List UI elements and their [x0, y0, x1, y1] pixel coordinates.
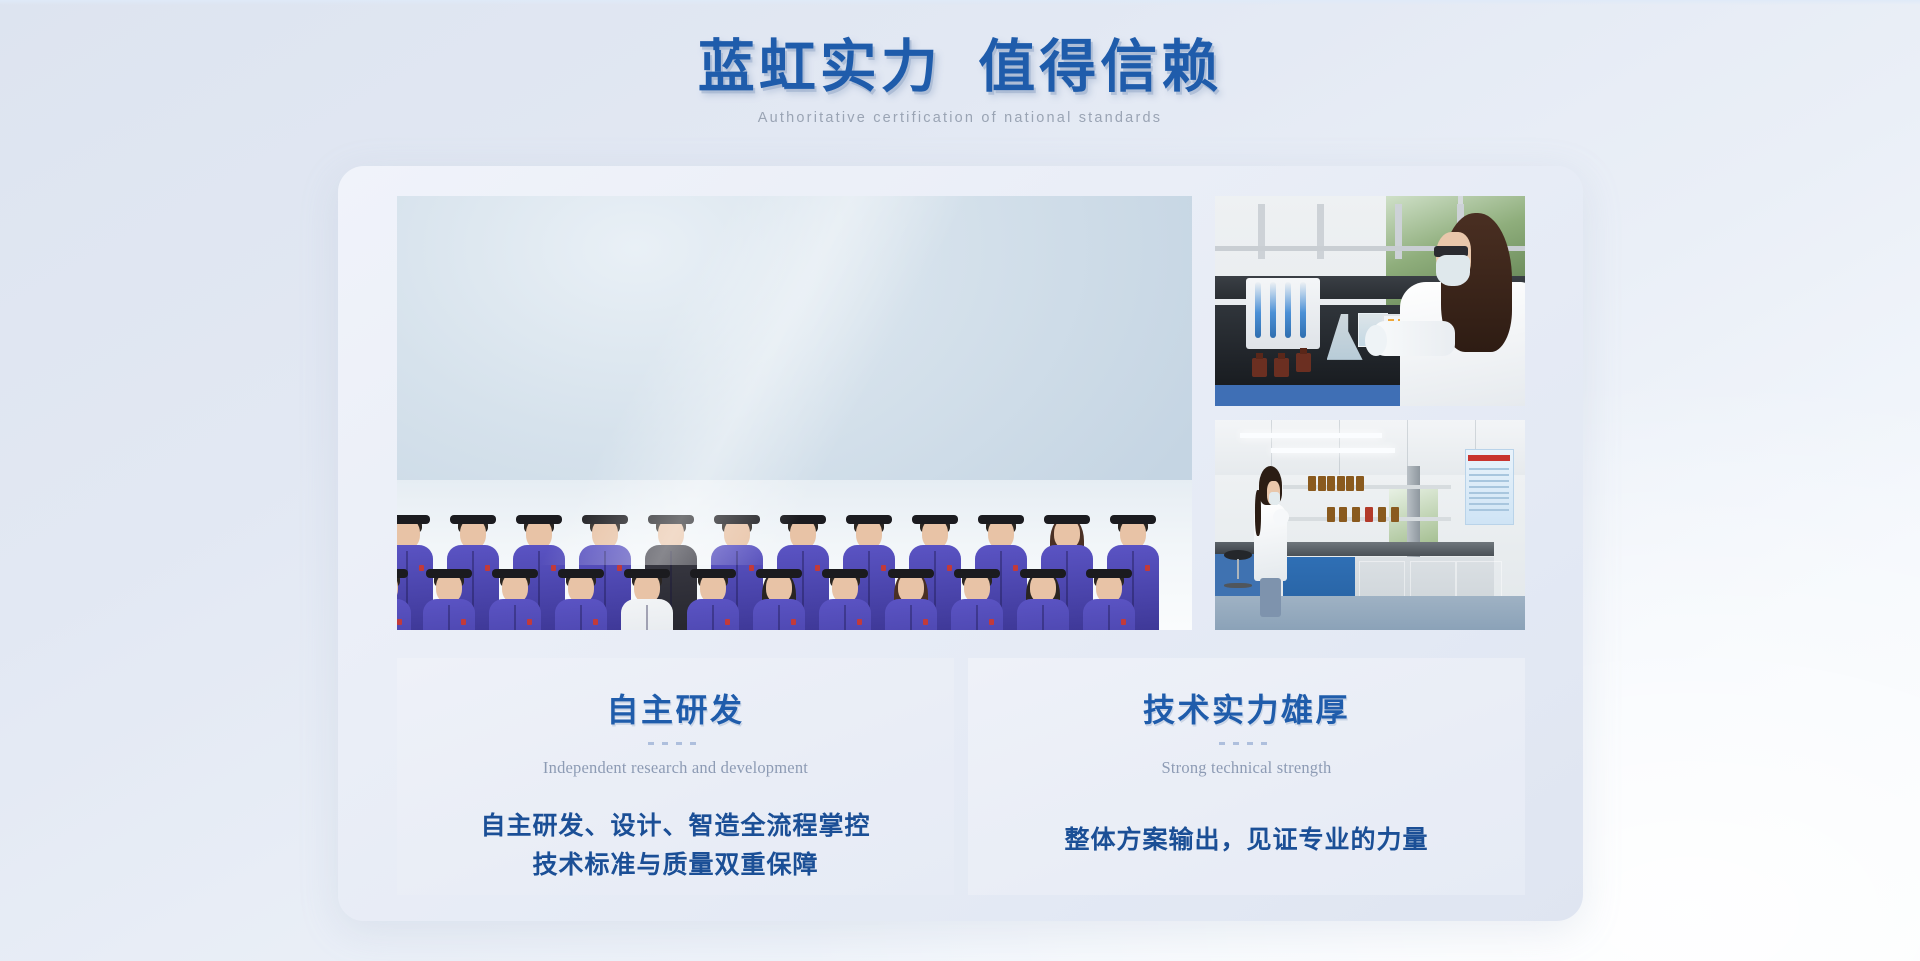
- feature-card-english: Strong technical strength: [968, 758, 1525, 778]
- reagent-bottle: [1296, 353, 1311, 372]
- content-panel: 自主研发 Independent research and developmen…: [338, 166, 1583, 921]
- team-photo[interactable]: [397, 196, 1192, 630]
- lab-technician-figure: [1252, 466, 1289, 617]
- feature-cards: 自主研发 Independent research and developmen…: [397, 658, 1525, 895]
- page-subtitle: Authoritative certification of national …: [0, 110, 1920, 126]
- lab-photo-pipetting[interactable]: [1215, 196, 1525, 406]
- page-title: 蓝虹实力 值得信赖: [0, 34, 1920, 101]
- pipette-rack: [1246, 278, 1320, 349]
- dashed-divider-icon: [1219, 742, 1275, 745]
- feature-card-title: 技术实力雄厚: [968, 685, 1525, 731]
- feature-card-english: Independent research and development: [397, 758, 954, 778]
- feature-card-description: 自主研发、设计、智造全流程掌控 技术标准与质量双重保障: [397, 808, 954, 886]
- feature-card-independent-rd[interactable]: 自主研发 Independent research and developmen…: [397, 658, 954, 895]
- lab2-island-bench-top: [1283, 542, 1494, 557]
- dashed-divider-icon: [648, 742, 704, 745]
- feature-card-title: 自主研发: [397, 685, 954, 731]
- lab2-wall-poster: [1465, 449, 1515, 525]
- feature-card-description-line: 自主研发、设计、智造全流程掌控: [397, 808, 954, 847]
- section-header: 蓝虹实力 值得信赖 Authoritative certification of…: [0, 0, 1920, 126]
- lab-photo-overview[interactable]: [1215, 420, 1525, 630]
- lab2-reagent-bottles: [1327, 506, 1408, 522]
- reagent-bottle: [1274, 358, 1289, 377]
- lab2-reagent-bottles: [1308, 475, 1376, 491]
- feature-card-description: 整体方案输出，见证专业的力量: [968, 822, 1525, 861]
- media-grid: [397, 196, 1525, 630]
- feature-card-description-line: 技术标准与质量双重保障: [397, 847, 954, 886]
- lab2-stool: [1224, 550, 1252, 588]
- team-photo-light-sheen: [397, 196, 1192, 565]
- reagent-bottle: [1252, 358, 1267, 377]
- lab-technician-figure: [1395, 213, 1525, 406]
- feature-card-description-line: 整体方案输出，见证专业的力量: [968, 822, 1525, 861]
- lab1-bench-blue-panel: [1215, 385, 1407, 406]
- feature-card-technical-strength[interactable]: 技术实力雄厚 Strong technical strength 整体方案输出，…: [968, 658, 1525, 895]
